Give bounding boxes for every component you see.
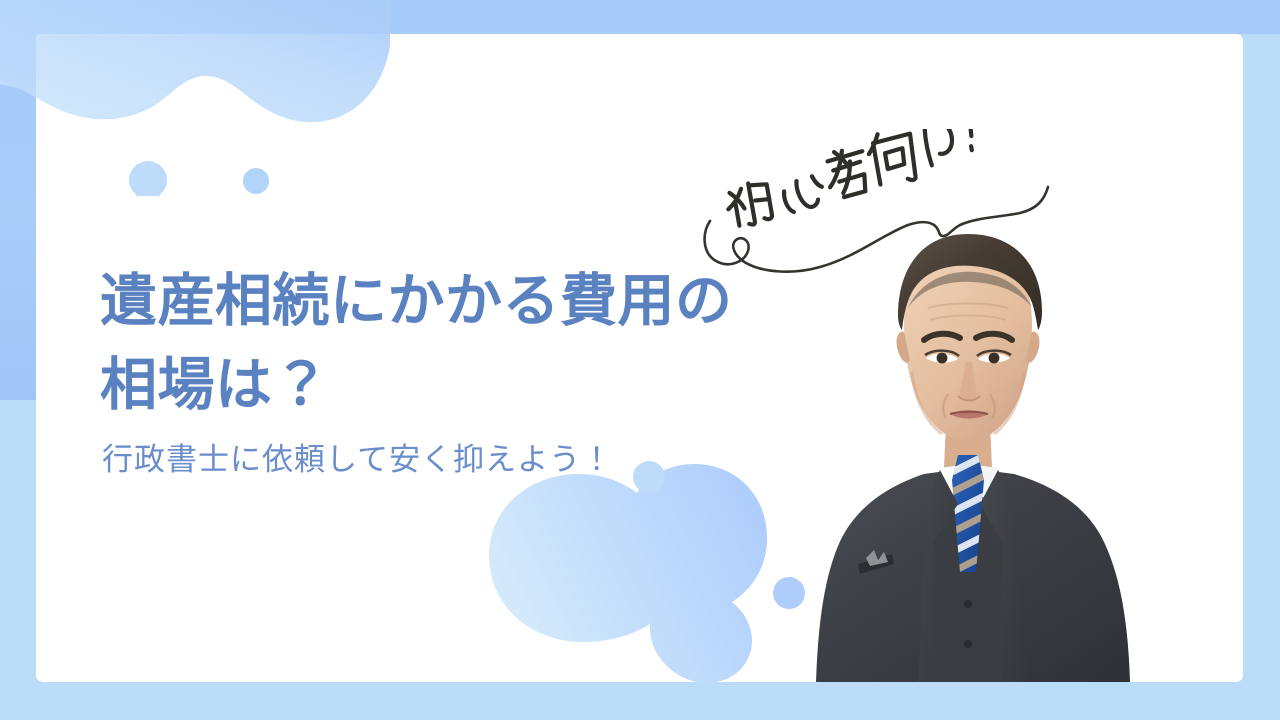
slide-canvas: 遺産相続にかかる費用の 相場は？ 行政書士に依頼して安く抑えよう！ [0, 0, 1280, 720]
text-block: 遺産相続にかかる費用の 相場は？ 行政書士に依頼して安く抑えよう！ [100, 259, 890, 480]
border-left-wash [0, 0, 36, 400]
businessman-photo: 行政書士 男性 ポートレート [808, 212, 1138, 682]
border-top-wash [0, 0, 1280, 34]
pupil-right [989, 353, 1000, 364]
vest-button-upper [964, 600, 972, 608]
badge-text: 初心者向け！ [696, 129, 697, 130]
top-left-blob [36, 34, 390, 196]
photo-alt-text: 行政書士 男性 ポートレート [808, 212, 810, 213]
vest-button-lower [964, 640, 972, 648]
decorative-circle-right [773, 577, 805, 609]
page-title: 遺産相続にかかる費用の 相場は？ [100, 259, 890, 428]
decorative-circle-large [129, 161, 167, 196]
page-subtitle: 行政書士に依頼して安く抑えよう！ [102, 440, 890, 480]
decorative-circle-small [243, 168, 269, 194]
content-card: 遺産相続にかかる費用の 相場は？ 行政書士に依頼して安く抑えよう！ [36, 34, 1243, 682]
pupil-left [937, 353, 948, 364]
